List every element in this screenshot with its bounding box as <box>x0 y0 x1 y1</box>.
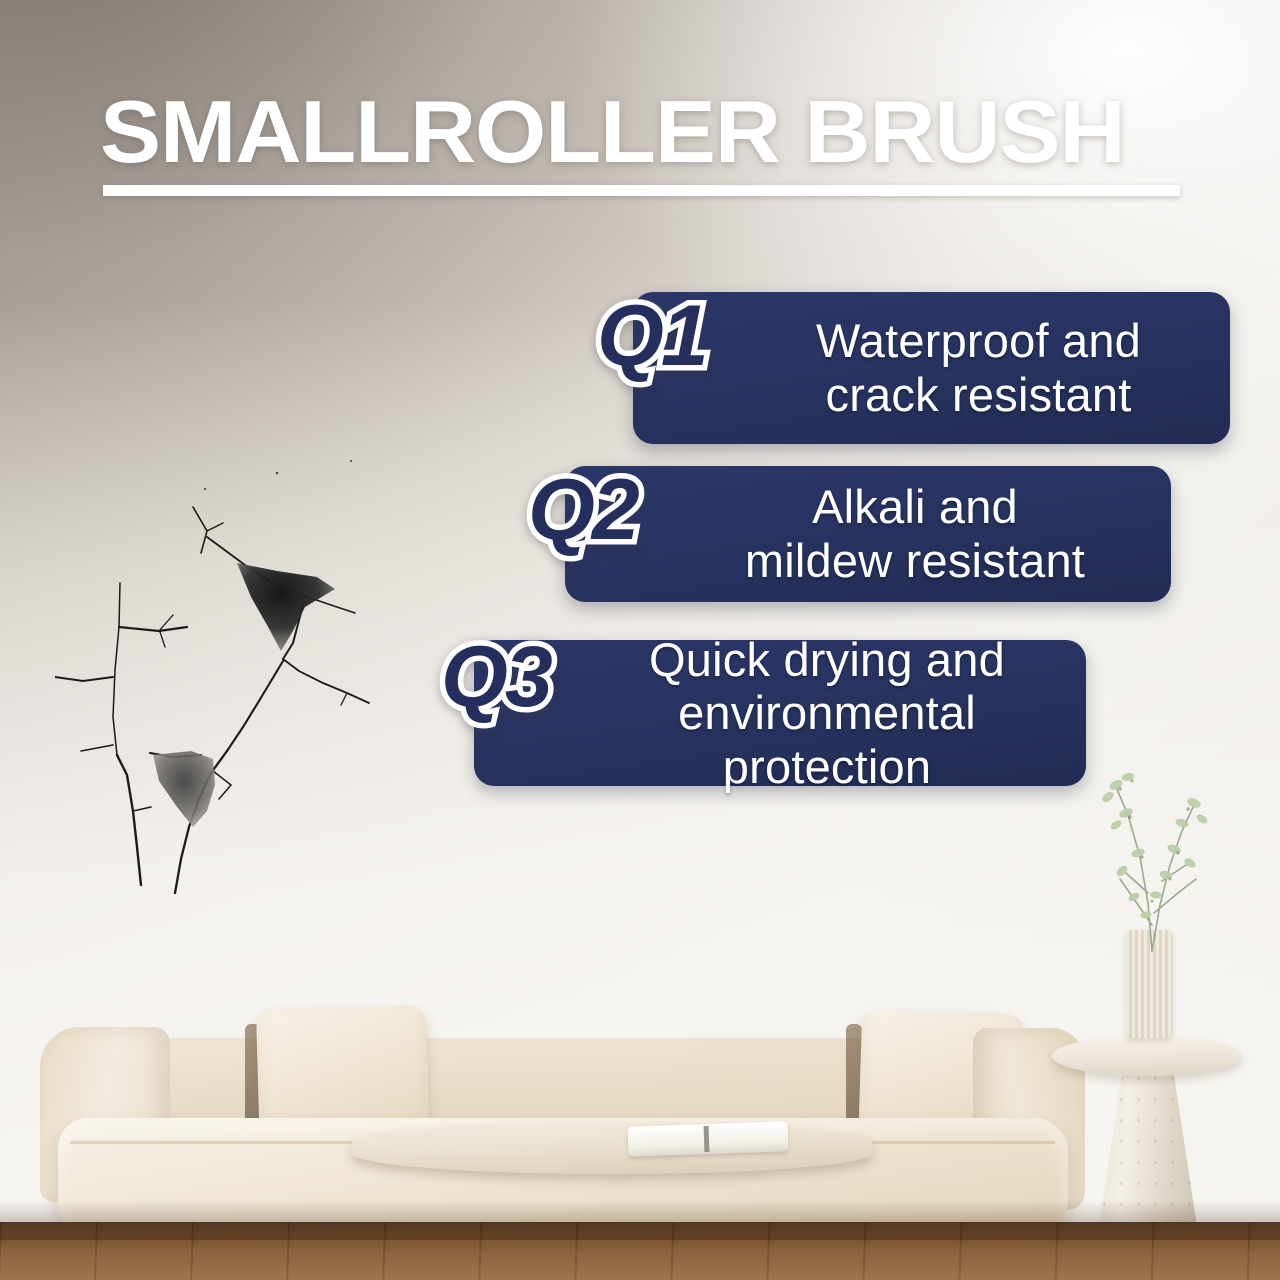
book-spine <box>704 1126 710 1152</box>
feature-badge-q1: Q1 <box>597 293 706 379</box>
plant-branches <box>1082 753 1232 953</box>
feature-badge-q3: Q3 <box>441 634 550 720</box>
crack-chip-upper <box>237 563 335 651</box>
wall-crack-graphic <box>55 455 385 905</box>
feature-text-q2: Alkali and mildew resistant <box>745 480 1085 587</box>
crack-chip-lower <box>153 751 215 827</box>
product-banner: SMALLROLLER BRUSH Waterproof and crack r… <box>0 0 1280 1280</box>
feature-badge-q2: Q2 <box>528 467 637 553</box>
crack-svg <box>55 455 385 905</box>
coffee-table-top <box>352 1122 872 1174</box>
feature-pill-q2[interactable]: Alkali and mildew resistant <box>565 466 1171 602</box>
feature-text-q1: Waterproof and crack resistant <box>816 314 1141 421</box>
feature-pill-q3[interactable]: Quick drying and environmental protectio… <box>474 640 1086 786</box>
floor-contact-shadow <box>0 1200 1280 1240</box>
title-underline <box>103 185 1180 196</box>
side-table-top <box>1052 1036 1242 1076</box>
feature-text-q3: Quick drying and environmental protectio… <box>594 633 1060 794</box>
page-title: SMALLROLLER BRUSH <box>100 88 1244 176</box>
feature-pill-q1[interactable]: Waterproof and crack resistant <box>633 292 1230 444</box>
